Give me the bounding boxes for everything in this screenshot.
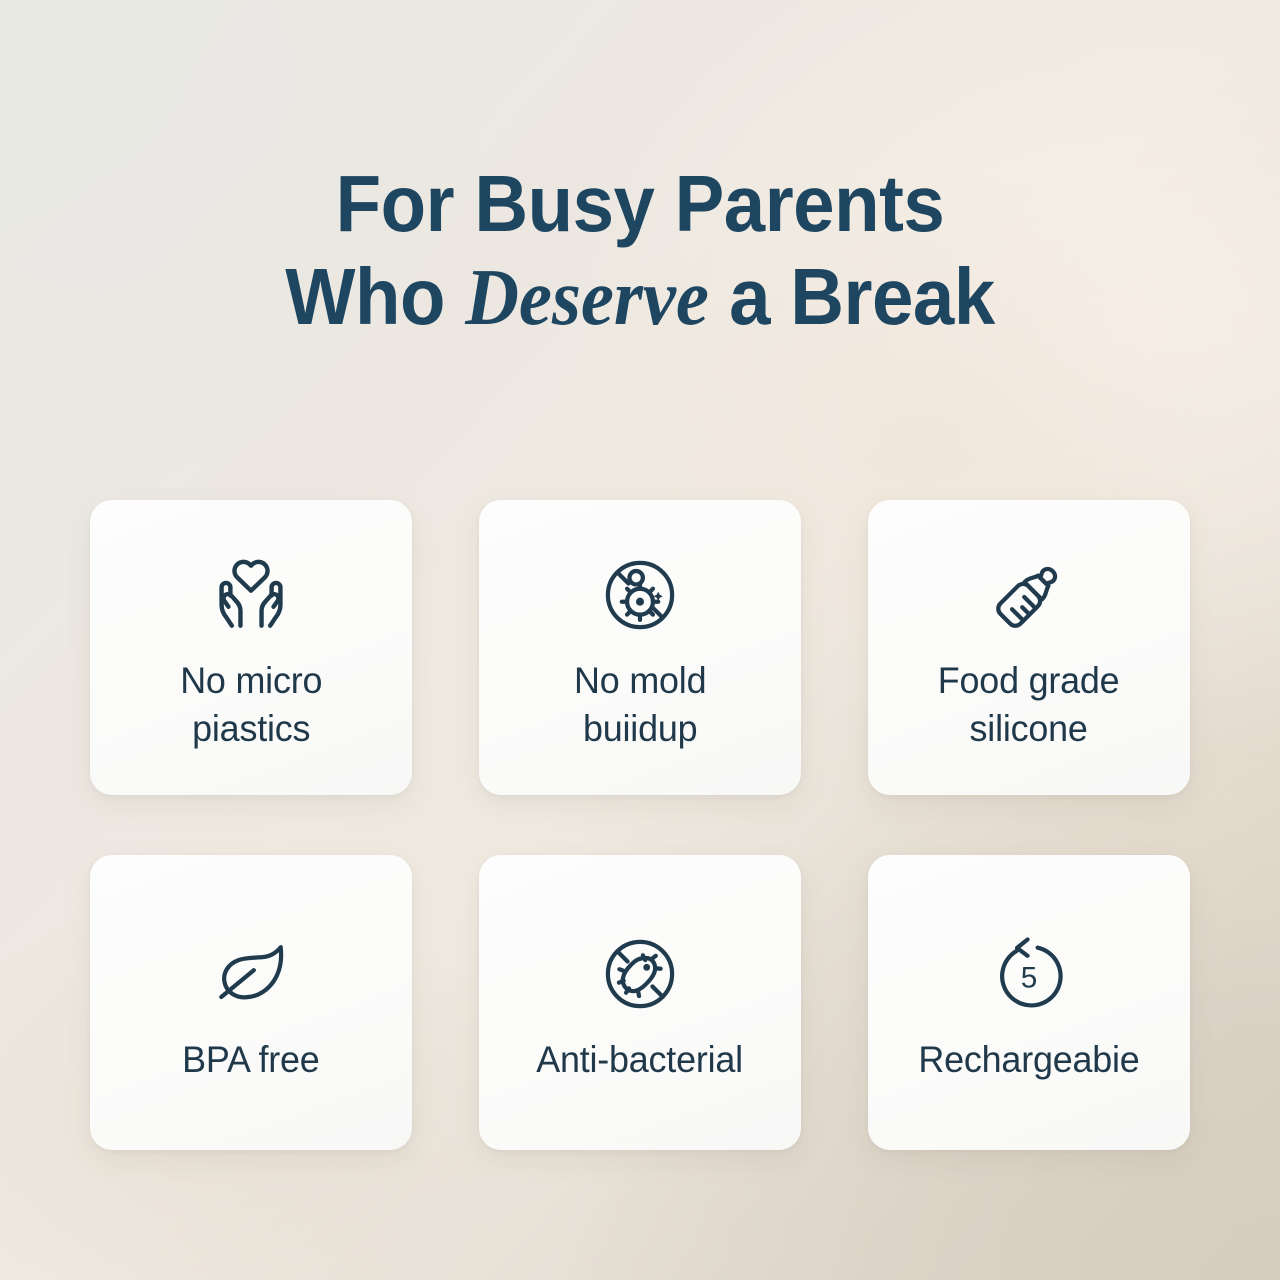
feature-label: Rechargeabie [918, 1036, 1139, 1083]
no-mold-icon [594, 543, 686, 647]
feature-label: Anti-bacterial [537, 1036, 744, 1083]
page-title: For Busy Parents Who Deserve a Break [0, 161, 1280, 341]
feature-label: Food grade silicone [938, 657, 1120, 752]
feature-label: BPA free [182, 1036, 319, 1083]
feature-card-no-micro-plastics[interactable]: No micro piastics [90, 500, 412, 795]
leaf-icon [205, 922, 297, 1026]
headline-line-2-suffix: a Break [709, 252, 995, 341]
headline-line-1: For Busy Parents [45, 161, 1235, 247]
headline-line-2-prefix: Who [285, 252, 465, 341]
headline-line-2: Who Deserve a Break [45, 254, 1235, 341]
feature-card-rechargeable[interactable]: 5 Rechargeabie [868, 855, 1190, 1150]
heart-in-hands-icon [205, 543, 297, 647]
feature-label: No mold buiidup [574, 657, 706, 752]
feature-grid: No micro piastics [90, 500, 1190, 1150]
no-bacteria-icon [594, 922, 686, 1026]
feature-label: No micro piastics [180, 657, 322, 752]
feature-card-bpa-free[interactable]: BPA free [90, 855, 412, 1150]
feature-card-food-grade-silicone[interactable]: Food grade silicone [868, 500, 1190, 795]
headline-emphasis: Deserve [465, 254, 709, 342]
feature-card-no-mold-buildup[interactable]: No mold buiidup [479, 500, 801, 795]
baby-bottle-icon [983, 543, 1075, 647]
feature-card-anti-bacterial[interactable]: Anti-bacterial [479, 855, 801, 1150]
rotate-icon-badge-number: 5 [1021, 961, 1038, 994]
feature-poster: For Busy Parents Who Deserve a Break No … [0, 0, 1280, 1280]
rotate-five-icon: 5 [983, 922, 1075, 1026]
